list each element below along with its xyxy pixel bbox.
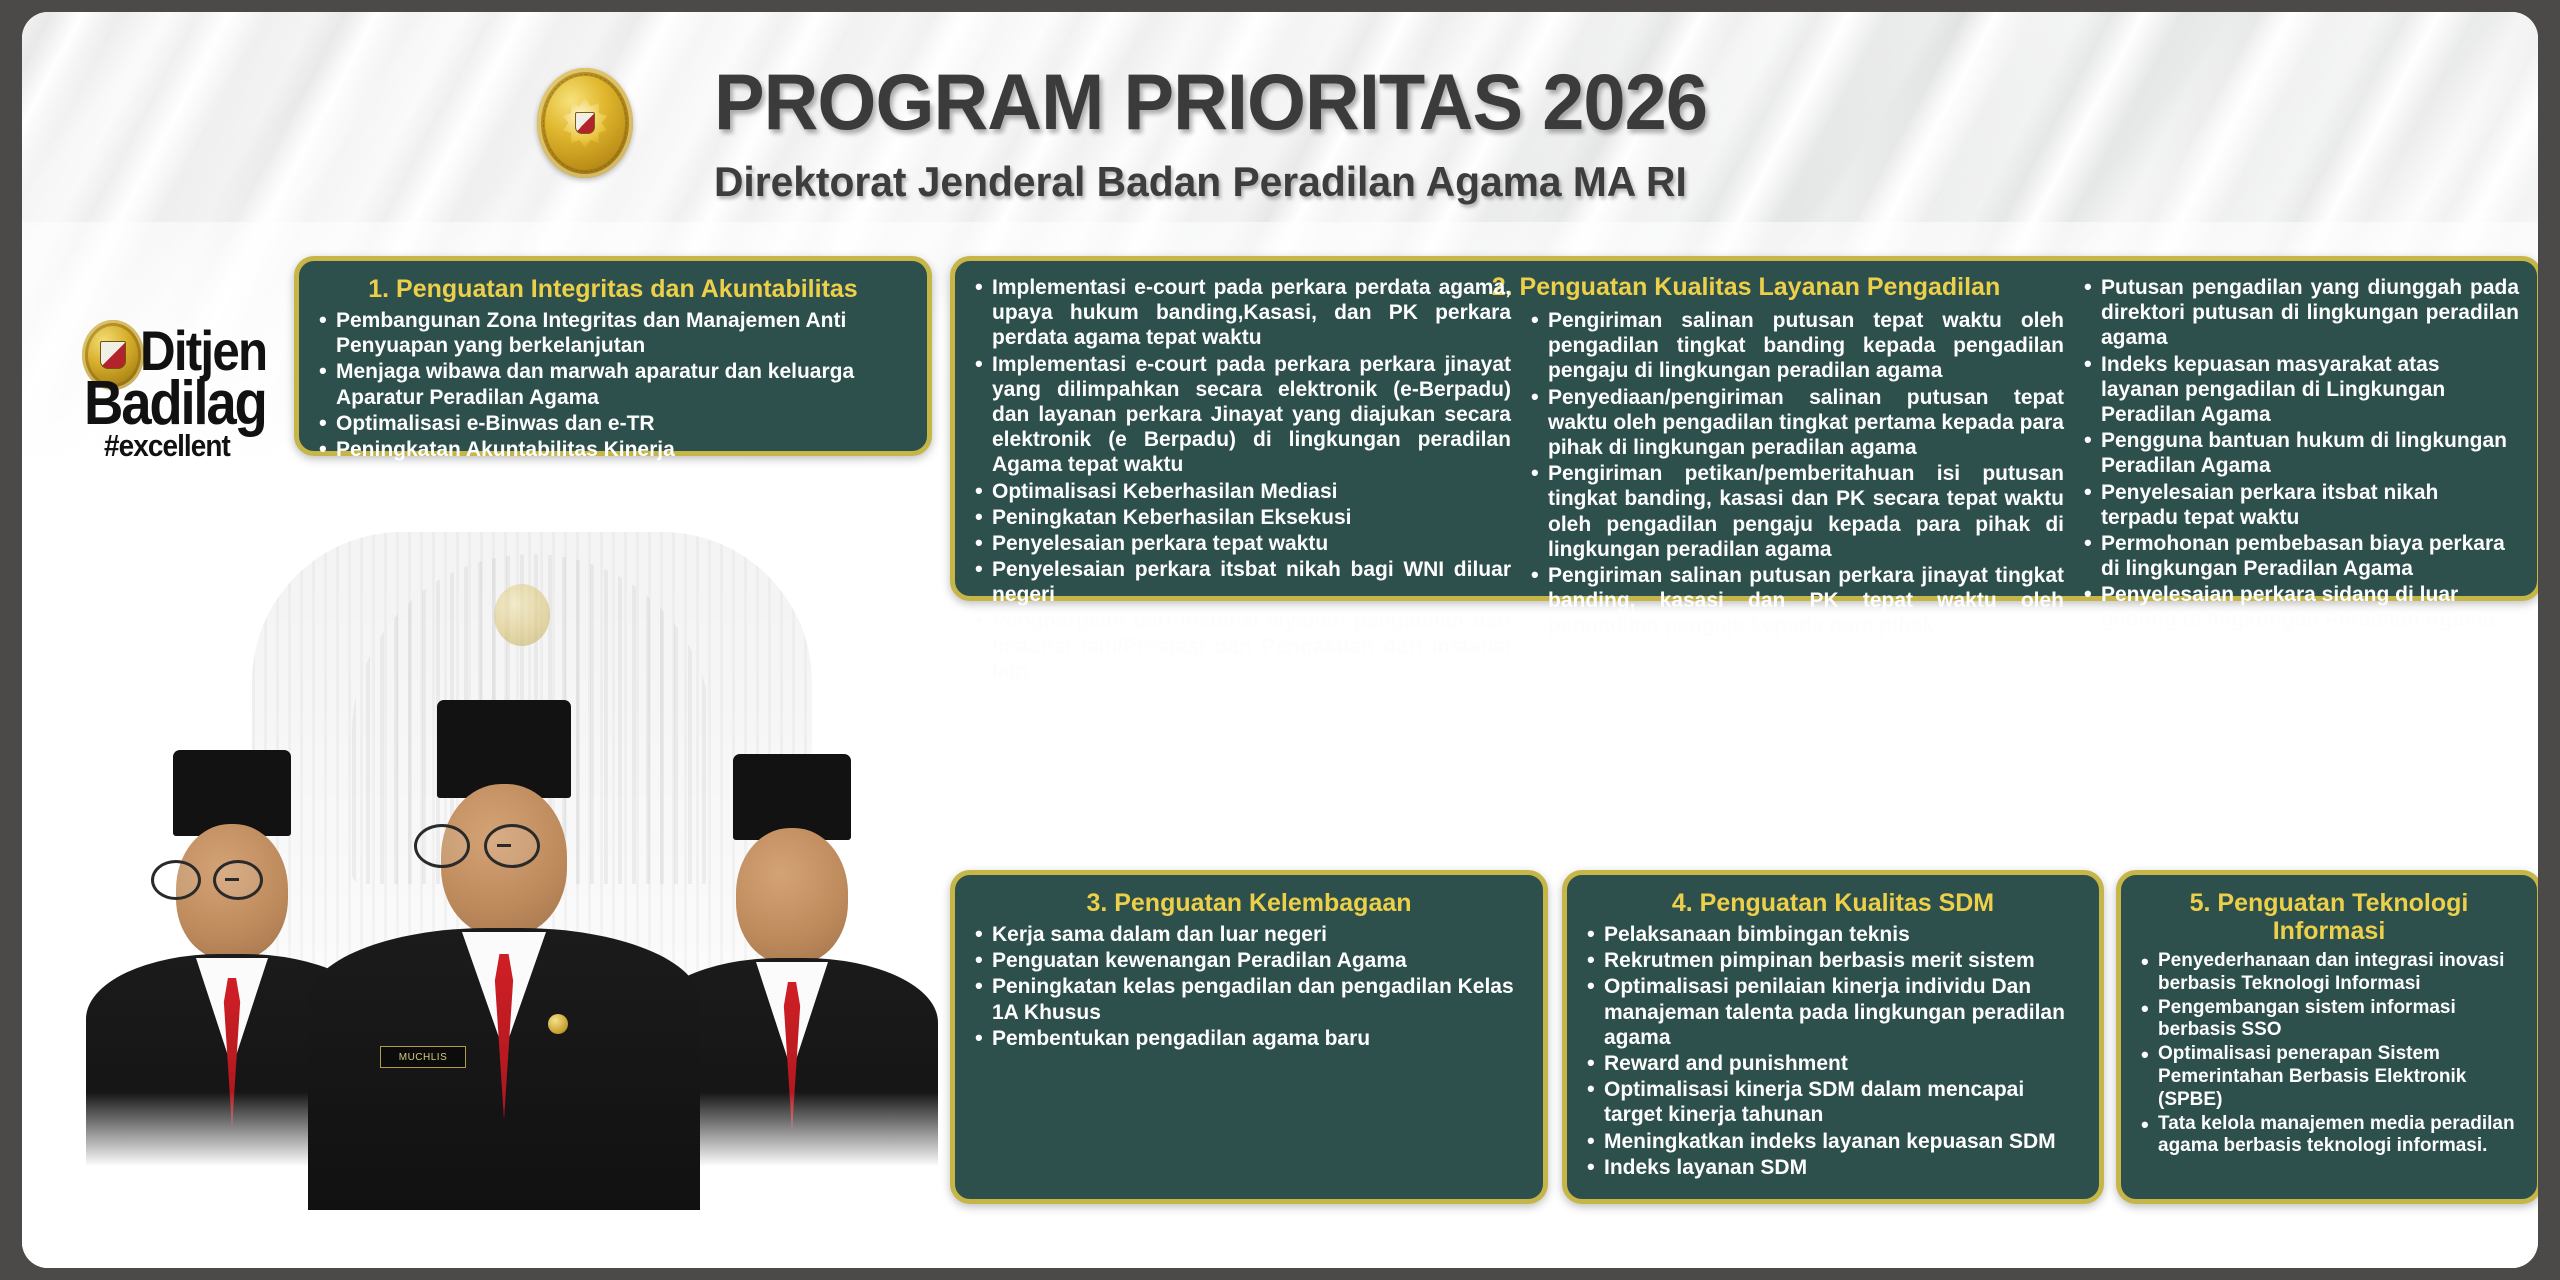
priority-card-5: 5. Penguatan Teknologi Informasi Penyede… — [2116, 870, 2538, 1204]
list-item: Optimalisasi penerapan Sistem Pemerintah… — [2139, 1043, 2519, 1111]
list-item: Pengembangan sistem informasi berbasis S… — [2139, 997, 2519, 1043]
list-item: Penguatan kewenangan Peradilan Agama — [973, 948, 1525, 973]
priority-card-3: 3. Penguatan Kelembagaan Kerja sama dala… — [950, 870, 1548, 1204]
list-item: Indeks kepuasan masyarakat atas layanan … — [2082, 352, 2519, 428]
card-5-title: 5. Penguatan Teknologi Informasi — [2139, 889, 2519, 945]
glasses-left-lens — [151, 860, 201, 900]
card-3-list: Kerja sama dalam dan luar negeri Penguat… — [973, 922, 1525, 1051]
list-item: Tata kelola manajemen media peradilan ag… — [2139, 1113, 2519, 1159]
list-item: Penyelesaian perkara itsbat nikah terpad… — [2082, 480, 2519, 530]
glasses-right-lens — [484, 824, 540, 868]
list-item: Peningkatan kelas pengadilan dan pengadi… — [973, 974, 1525, 1024]
card-2-list-c: Putusan pengadilan yang diunggah pada di… — [2082, 275, 2519, 633]
list-item: Penyelesaian perkara itsbat nikah bagi W… — [973, 557, 1511, 607]
list-item: Optimalisasi e-Binwas dan e-TR — [317, 411, 909, 436]
card-4-list: Pelaksanaan bimbingan teknis Rekrutmen p… — [1585, 922, 2081, 1180]
list-item: Peningkatan Akuntabilitas Kinerja — [317, 437, 909, 462]
card-3-title: 3. Penguatan Kelembagaan — [973, 889, 1525, 917]
card-2-title: 2. Penguatan Kualitas Layanan Pengadilan — [1492, 273, 2000, 302]
list-item: Pengiriman salinan putusan tepat waktu o… — [1529, 308, 2064, 384]
card-2-column-a: Implementasi e-court pada perkara perdat… — [973, 275, 1511, 685]
officials-photo: MUCHLIS — [42, 532, 962, 1232]
card-5-list: Penyederhanaan dan integrasi inovasi ber… — [2139, 950, 2519, 1158]
list-item: Penyelesaian perkara tepat waktu — [973, 531, 1511, 556]
glasses-left-lens — [414, 824, 470, 868]
name-tag: MUCHLIS — [380, 1046, 466, 1068]
list-item: Pengiriman petikan/pemberitahuan isi put… — [1529, 461, 2064, 562]
list-item: Penyelesaian perkara sidang di luar gedu… — [2082, 582, 2519, 632]
poster-canvas: PROGRAM PRIORITAS 2026 Direktorat Jender… — [22, 12, 2538, 1268]
card-2-list-b: Pengiriman salinan putusan tepat waktu o… — [1529, 308, 2064, 638]
list-item: Implementasi e-court pada perkara perkar… — [973, 352, 1511, 478]
list-item: Reward and punishment — [1585, 1051, 2081, 1076]
card-1-list: Pembangunan Zona Integritas dan Manajeme… — [317, 308, 909, 462]
official-center: MUCHLIS — [304, 700, 704, 1210]
page-title: PROGRAM PRIORITAS 2026 — [714, 56, 1707, 148]
card-2-list-a: Implementasi e-court pada perkara perdat… — [973, 275, 1511, 684]
list-item: Penyederhanaan dan integrasi inovasi ber… — [2139, 950, 2519, 996]
list-item: Putusan pengadilan yang diunggah pada di… — [2082, 275, 2519, 351]
priority-card-1: 1. Penguatan Integritas dan Akuntabilita… — [294, 256, 932, 456]
list-item: Kerja sama dalam dan luar negeri — [973, 922, 1525, 947]
face — [736, 828, 848, 964]
list-item: Implementasi e-court pada perkara perdat… — [973, 275, 1511, 351]
list-item: Rekrutmen pimpinan berbasis merit sistem — [1585, 948, 2081, 973]
glasses-bridge — [497, 844, 511, 847]
list-item: Pengiriman salinan putusan perkara jinay… — [1529, 563, 2064, 639]
mahkamah-agung-seal-icon — [537, 68, 633, 178]
list-item: Optimalisasi kinerja SDM dalam mencapai … — [1585, 1077, 2081, 1127]
priority-card-2: 2. Penguatan Kualitas Layanan Pengadilan… — [950, 256, 2538, 601]
lapel-pin-icon — [548, 1014, 568, 1034]
list-item: Pembentukan pengadilan agama baru — [973, 1026, 1525, 1051]
card-1-title: 1. Penguatan Integritas dan Akuntabilita… — [317, 275, 909, 303]
building-seal-icon — [494, 584, 550, 646]
list-item: Permohonan pembebasan biaya perkara di l… — [2082, 531, 2519, 581]
card-2-column-c: Putusan pengadilan yang diunggah pada di… — [2082, 275, 2519, 685]
list-item: Peningkatan Keberhasilan Eksekusi — [973, 505, 1511, 530]
glasses-bridge — [225, 878, 239, 881]
list-item: Indeks layanan SDM — [1585, 1155, 2081, 1180]
list-item: Optimalisasi Keberhasilan Mediasi — [973, 479, 1511, 504]
priority-card-4: 4. Penguatan Kualitas SDM Pelaksanaan bi… — [1562, 870, 2104, 1204]
ditjen-badilag-logo: Ditjen Badilag #excellent — [80, 312, 295, 487]
list-item: Penghargaan dari instansi layanan pengad… — [973, 608, 1511, 684]
list-item: Menjaga wibawa dan marwah aparatur dan k… — [317, 359, 909, 409]
poster-header: PROGRAM PRIORITAS 2026 Direktorat Jender… — [22, 12, 2538, 227]
list-item: Meningkatkan indeks layanan kepuasan SDM — [1585, 1129, 2081, 1154]
list-item: Pembangunan Zona Integritas dan Manajeme… — [317, 308, 909, 358]
list-item: Penyediaan/pengiriman salinan putusan te… — [1529, 385, 2064, 461]
logo-line-excellent: #excellent — [104, 428, 230, 464]
list-item: Pelaksanaan bimbingan teknis — [1585, 922, 2081, 947]
list-item: Pengguna bantuan hukum di lingkungan Per… — [2082, 428, 2519, 478]
list-item: Optimalisasi penilaian kinerja individu … — [1585, 974, 2081, 1050]
card-4-title: 4. Penguatan Kualitas SDM — [1585, 889, 2081, 917]
seal-shield — [575, 112, 595, 134]
page-subtitle: Direktorat Jenderal Badan Peradilan Agam… — [714, 158, 1687, 206]
card-2-column-b: Pengiriman salinan putusan tepat waktu o… — [1529, 275, 2064, 685]
